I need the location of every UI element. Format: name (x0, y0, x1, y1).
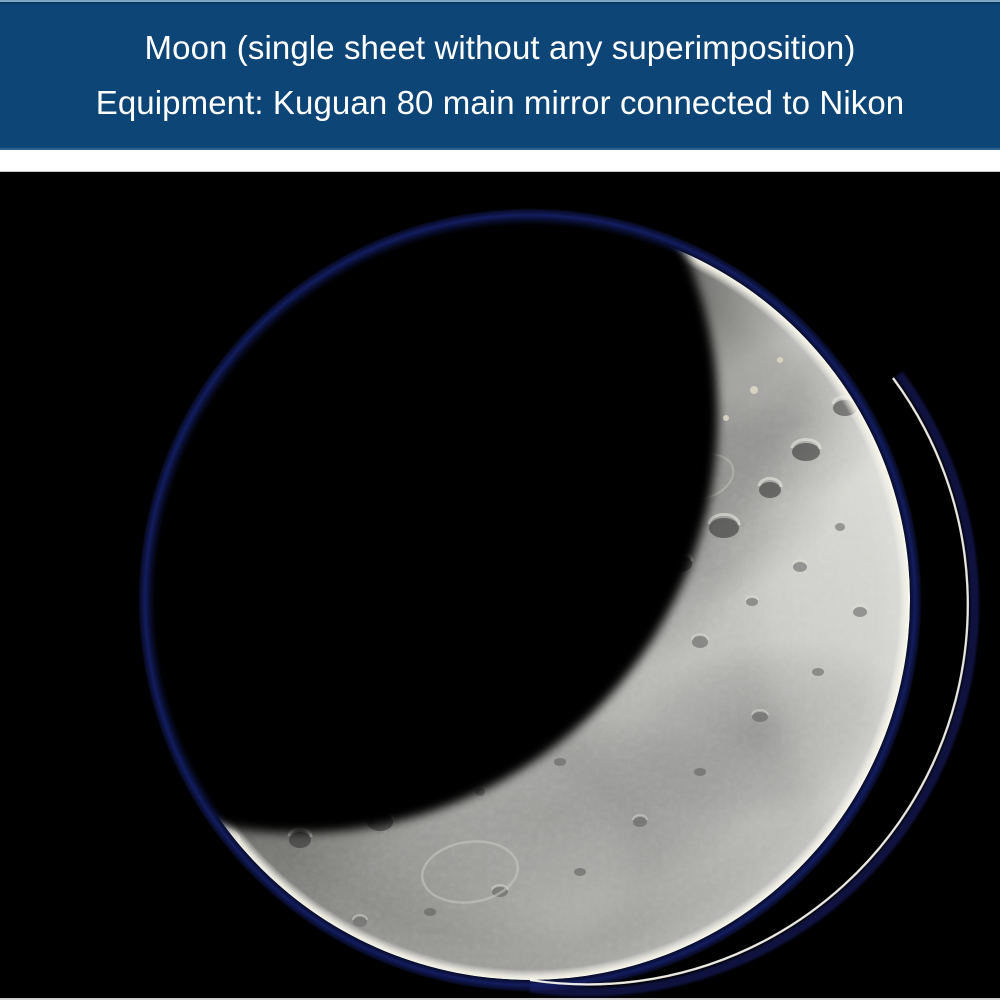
lunar-crescent (0, 172, 1000, 998)
caption-banner: Moon (single sheet without any superimpo… (0, 0, 1000, 150)
caption-line-title: Moon (single sheet without any superimpo… (145, 31, 856, 64)
moon-photograph-canvas (0, 172, 1000, 998)
product-image-card: Moon (single sheet without any superimpo… (0, 0, 1000, 1000)
moon-photograph (0, 172, 1000, 998)
caption-line-equipment: Equipment: Kuguan 80 main mirror connect… (96, 86, 905, 119)
banner-photo-separator (0, 150, 1000, 172)
banner-top-edge-shadow (0, 2, 1000, 4)
limb-brightening (150, 220, 910, 980)
